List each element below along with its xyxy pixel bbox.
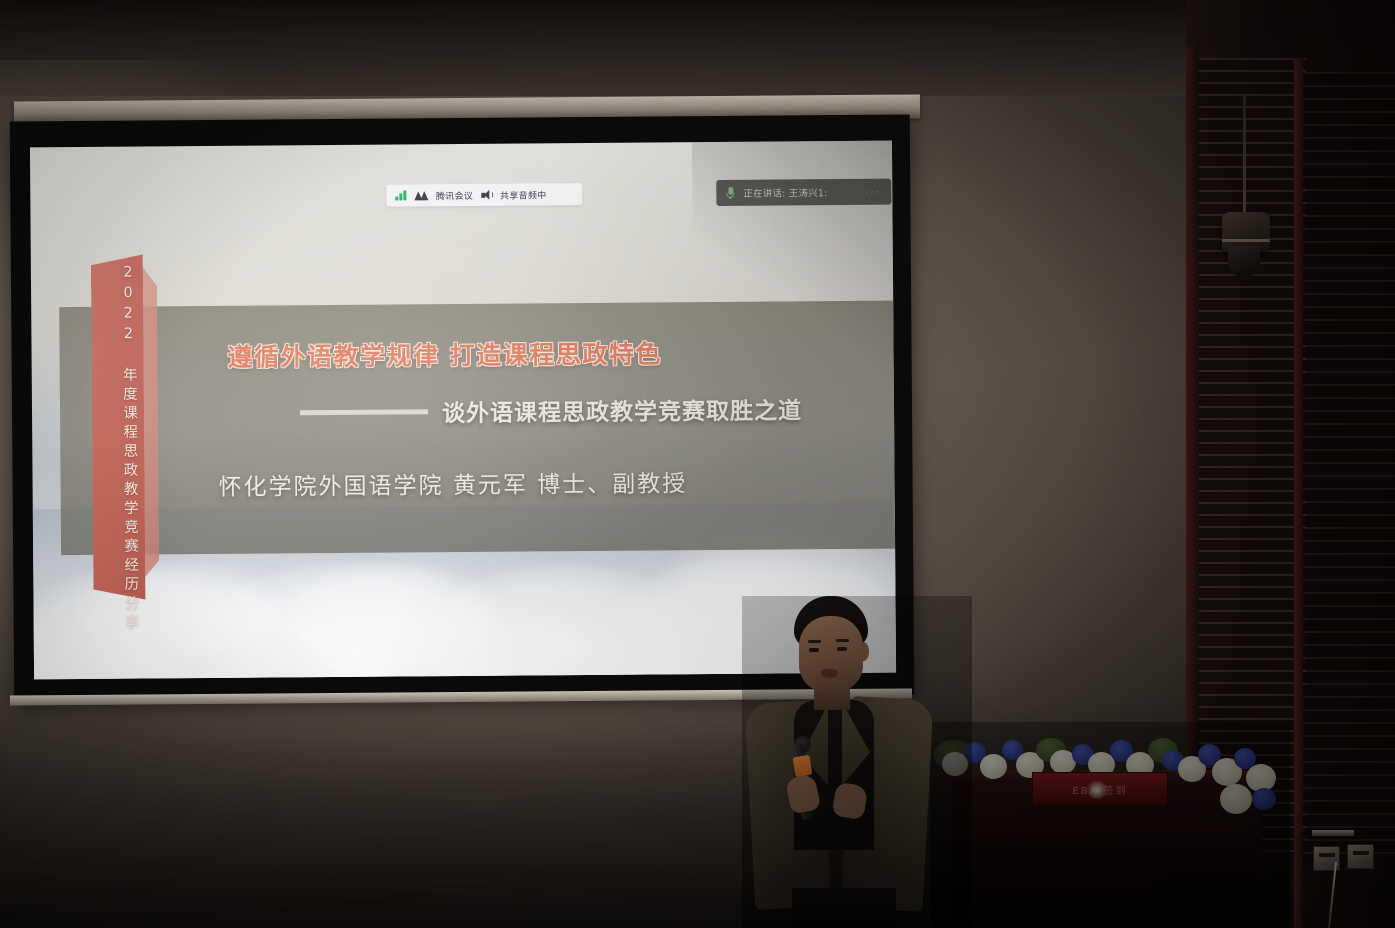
eye-left	[809, 648, 819, 652]
speaker-person	[742, 596, 972, 928]
active-speaker-indicator[interactable]: 正在讲话: 王涛兴1: ···	[716, 179, 891, 206]
slide-subtitle: 谈外语课程思政教学竞赛取胜之道	[442, 391, 802, 428]
eyebrow-right	[836, 639, 849, 642]
ear	[858, 642, 869, 661]
camera-lens-icon	[1228, 246, 1260, 276]
wall-conduit	[1312, 830, 1354, 836]
face	[799, 616, 863, 692]
ribbon-label: 2022 年度课程思政教学竞赛经历分享	[99, 265, 142, 595]
meeting-app-name: 腾讯会议	[436, 188, 473, 201]
door-jamb-secondary	[1294, 58, 1303, 928]
placard-light-reflection	[1086, 781, 1108, 799]
slide-subtitle-row: 谈外语课程思政教学竞赛取胜之道	[300, 391, 802, 429]
trousers	[792, 888, 896, 928]
wall-power-outlet-right	[1347, 844, 1374, 869]
mouth	[821, 669, 838, 678]
slide-title: 遵循外语教学规律 打造课程思政特色	[227, 334, 661, 373]
eye-right	[837, 647, 847, 651]
tencent-meeting-logo-icon	[414, 191, 428, 200]
signal-bars-icon	[395, 190, 406, 200]
microphone-orange-band	[793, 755, 813, 777]
lecture-hall-scene: 腾讯会议 共享音频中 正在讲话: 王涛兴1: ··· 2022 年	[0, 0, 1395, 928]
wall-louver-panel-secondary	[1300, 72, 1395, 862]
subtitle-rule	[300, 409, 428, 415]
slide-presenter-line: 怀化学院外国语学院 黄元军 博士、副教授	[218, 464, 687, 502]
active-speaker-label: 正在讲话: 王涛兴1:	[743, 185, 827, 200]
audio-share-status: 共享音频中	[500, 188, 547, 201]
camera-mount-rod	[1243, 96, 1246, 220]
microphone-icon	[726, 186, 734, 199]
tencent-meeting-share-bar[interactable]: 腾讯会议 共享音频中	[386, 183, 582, 207]
slide-side-ribbon: 2022 年度课程思政教学竞赛经历分享	[73, 254, 172, 600]
camera-band	[1222, 239, 1270, 242]
eyebrow-left	[808, 640, 821, 643]
speaker-icon	[481, 190, 492, 200]
overflow-menu-icon[interactable]: ···	[865, 185, 882, 198]
